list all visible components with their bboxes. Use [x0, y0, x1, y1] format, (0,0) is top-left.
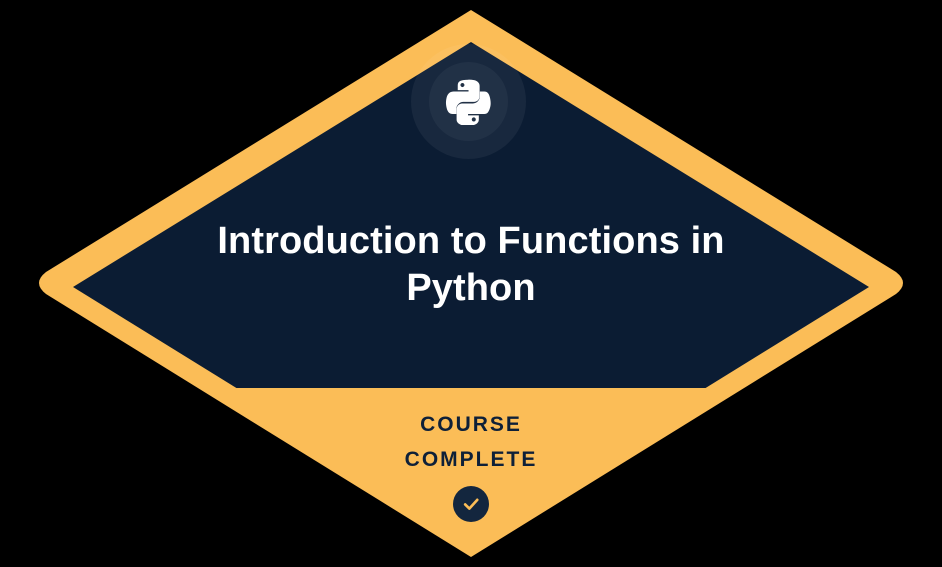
- completion-label-line-1: COURSE: [221, 407, 721, 442]
- check-mark-icon: [461, 494, 481, 514]
- course-title: Introduction to Functions in Python: [131, 218, 811, 312]
- completion-label-line-2: COMPLETE: [221, 442, 721, 477]
- python-emblem-inner-ring: [429, 62, 508, 141]
- course-completion-badge: Introduction to Functions in Python COUR…: [0, 0, 942, 567]
- python-logo-icon: [445, 78, 492, 125]
- python-emblem-outer-ring: [411, 44, 526, 159]
- check-circle-icon: [453, 486, 489, 522]
- completion-block: COURSE COMPLETE: [221, 407, 721, 522]
